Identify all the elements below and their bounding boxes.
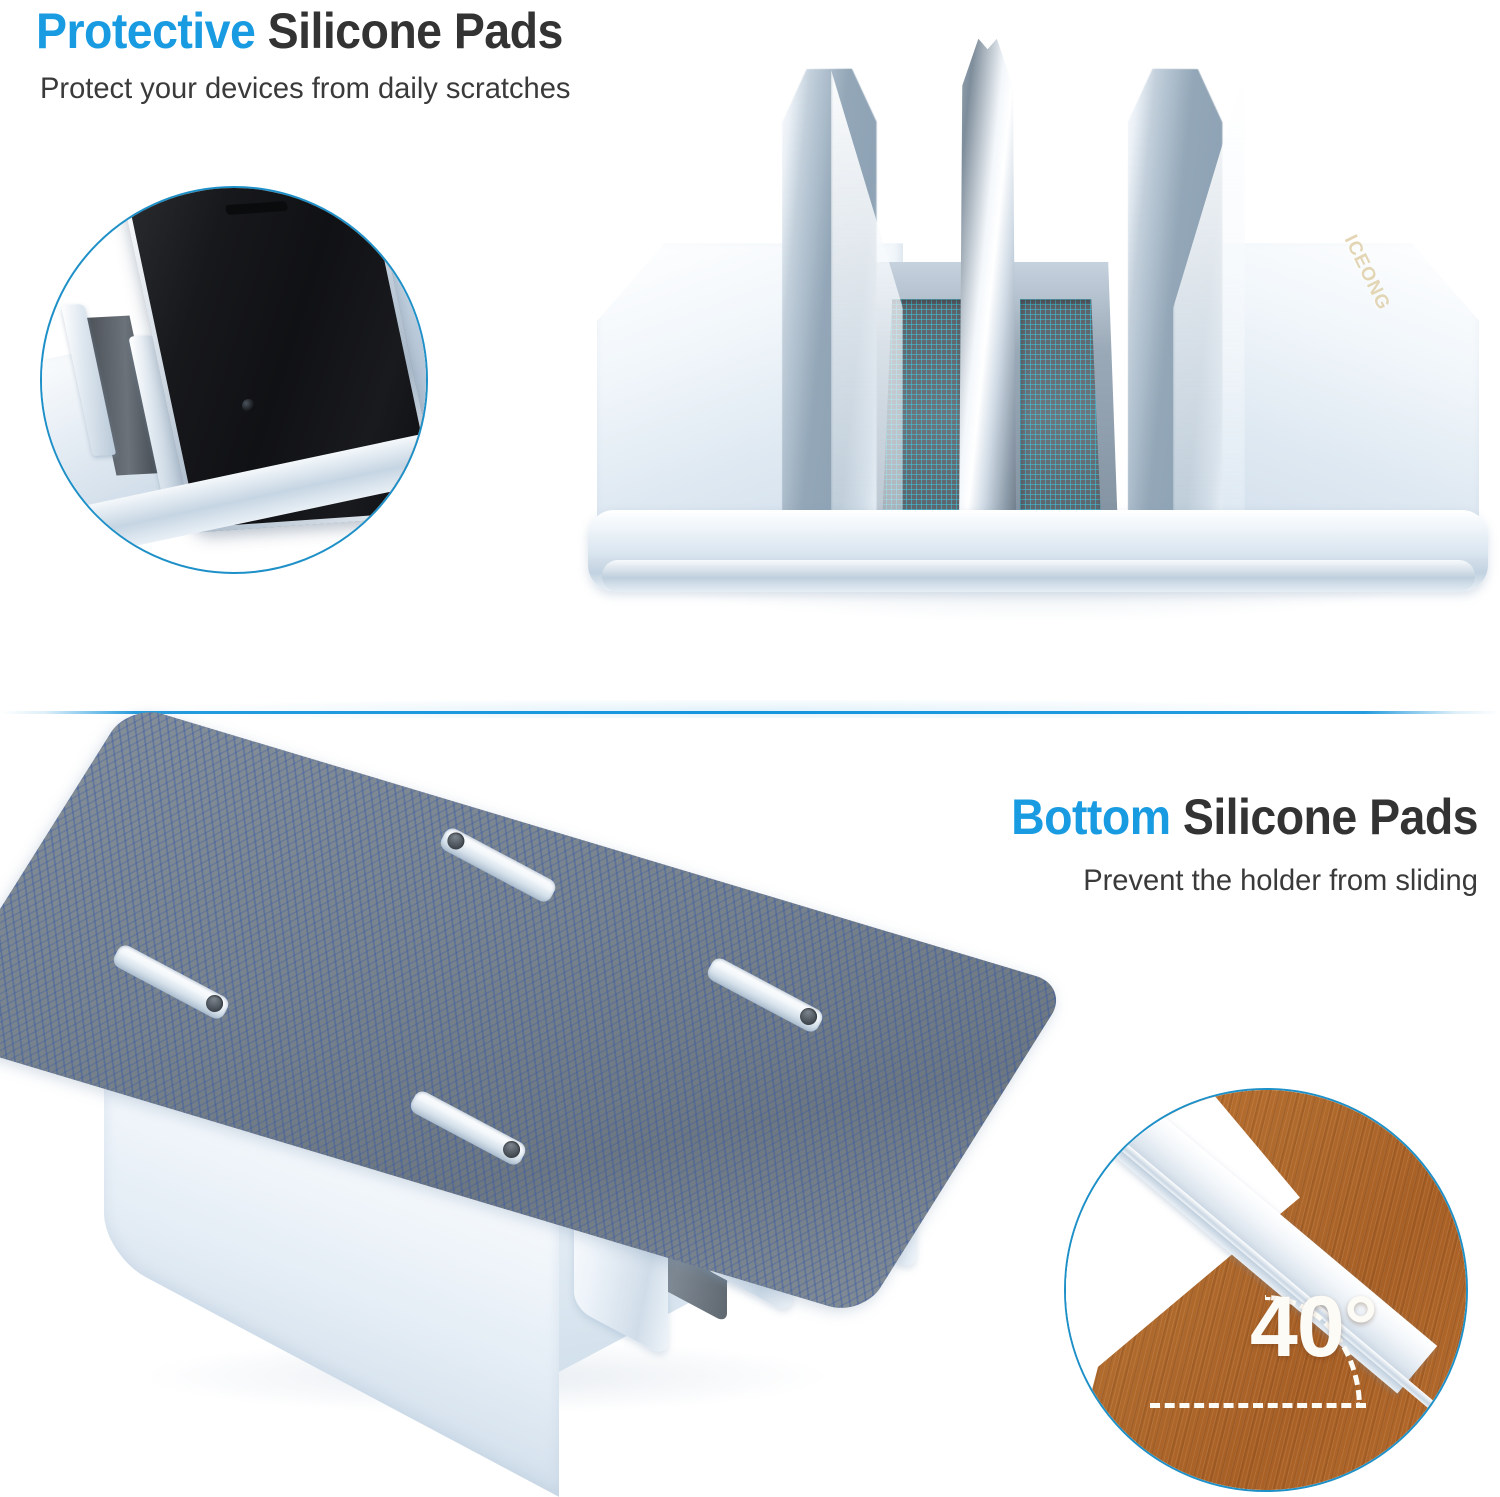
main-product-image: ICEONG	[588, 14, 1488, 634]
hex-screw-icon	[500, 1138, 523, 1161]
protective-subheading: Protect your devices from daily scratche…	[40, 74, 570, 104]
hex-screw-icon	[797, 1005, 820, 1028]
stand-fin-middle	[959, 39, 1017, 560]
protective-heading-rest: Silicone Pads	[255, 3, 562, 59]
bottom-heading-rest: Silicone Pads	[1171, 789, 1478, 845]
angle-value-label: 40°	[1250, 1284, 1377, 1370]
angle-closeup-inset: 40°	[1064, 1088, 1468, 1492]
section-divider	[0, 711, 1500, 714]
stand-base-plate-lip	[602, 560, 1475, 592]
phone-closeup-inset	[40, 186, 428, 574]
section-divider-glow	[0, 700, 1500, 718]
phone-in-slot-scene	[42, 188, 426, 572]
underside-product-image	[0, 806, 990, 1426]
bottom-heading: Bottom Silicone Pads	[1011, 792, 1478, 842]
hex-screw-icon	[203, 993, 226, 1016]
bottom-heading-accent: Bottom	[1011, 789, 1170, 845]
protective-heading: Protective Silicone Pads	[36, 6, 563, 56]
angle-on-wood-scene: 40°	[1066, 1090, 1466, 1490]
protective-heading-accent: Protective	[36, 3, 255, 59]
bottom-subheading: Prevent the holder from sliding	[1083, 866, 1478, 896]
hex-screw-icon	[444, 829, 467, 852]
